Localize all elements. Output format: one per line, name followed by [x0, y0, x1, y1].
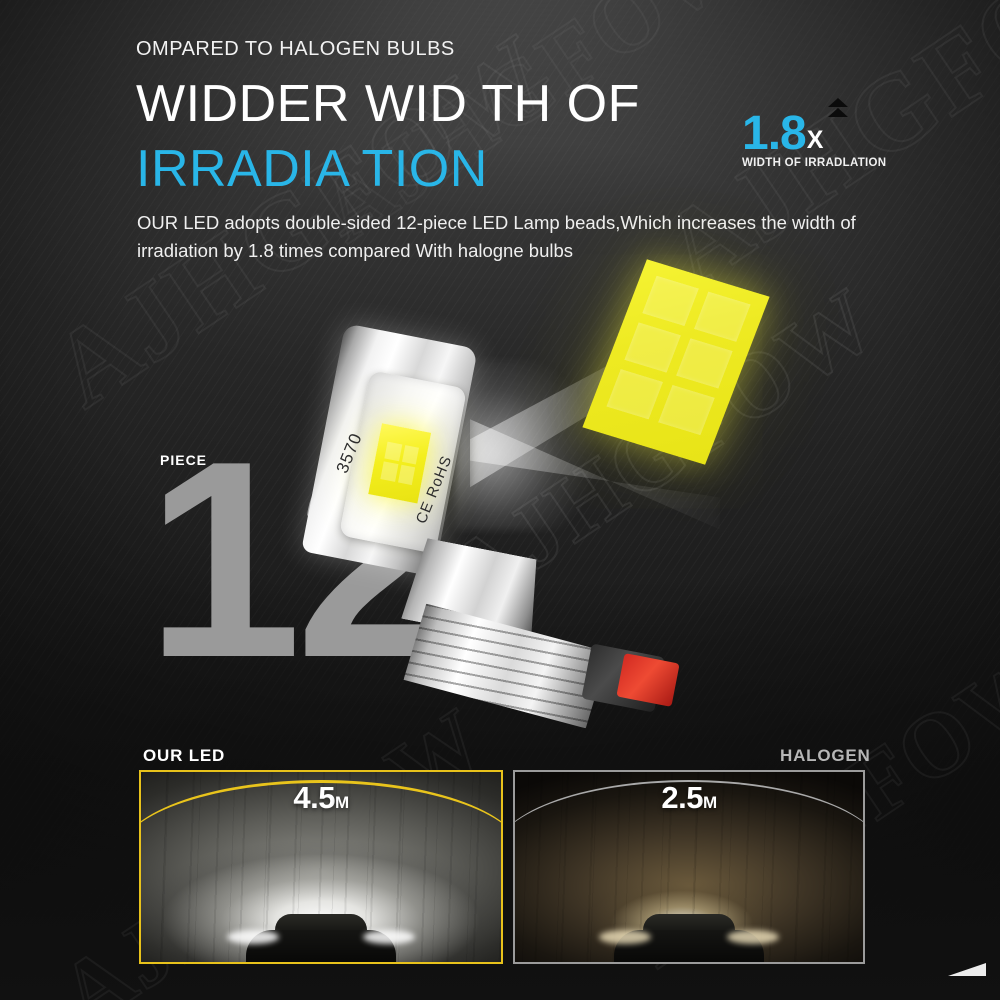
led-bulb-product-image: 3570 CE RoHS	[300, 320, 700, 720]
comparison-label-our-led: OUR LED	[143, 746, 225, 766]
led-emitter-cell	[401, 445, 419, 465]
corner-wedge-artifact	[948, 963, 986, 976]
distance-readout-halogen: 2.5M	[515, 780, 863, 816]
comparison-panel-halogen: 2.5M	[513, 770, 865, 964]
led-emitter-cell	[384, 442, 402, 462]
headlight-glow-left	[227, 930, 279, 944]
piece-count-label: PIECE	[160, 452, 207, 468]
header-kicker: OMPARED TO HALOGEN BULBS	[136, 38, 455, 61]
headlight-glow-left	[599, 930, 651, 944]
led-emitter-cell	[380, 462, 398, 482]
distance-readout-led: 4.5M	[141, 780, 501, 816]
badge-number: 1.8	[742, 112, 806, 156]
distance-unit: M	[335, 793, 349, 812]
led-emitter-grid	[380, 442, 419, 485]
distance-unit: M	[703, 793, 717, 812]
headline-line-2: IRRADIA TION	[136, 143, 488, 195]
distance-value: 2.5	[661, 780, 703, 815]
chevron-up-icon	[828, 98, 848, 117]
comparison-panel-our-led: 4.5M	[139, 770, 503, 964]
headline-line-1: WIDDER WID TH OF	[136, 78, 640, 130]
comparison-label-halogen: HALOGEN	[780, 746, 871, 766]
headlight-glow-right	[363, 930, 415, 944]
header-body-copy: OUR LED adopts double-sided 12-piece LED…	[137, 209, 937, 265]
distance-value: 4.5	[293, 780, 335, 815]
led-emitter-pad	[368, 423, 431, 503]
badge-multiplier: X	[807, 128, 824, 156]
cob-led-cell	[643, 275, 699, 325]
product-infographic: AJHGFOW AJHGFOW AJHGFOW AJHGFOW AJHGFOW …	[0, 0, 1000, 1000]
led-emitter-cell	[398, 465, 416, 485]
irradiation-width-badge: 1.8 X WIDTH OF IRRADLATION	[742, 104, 922, 169]
badge-value-row: 1.8 X	[742, 104, 922, 156]
cob-led-cell	[694, 291, 750, 341]
